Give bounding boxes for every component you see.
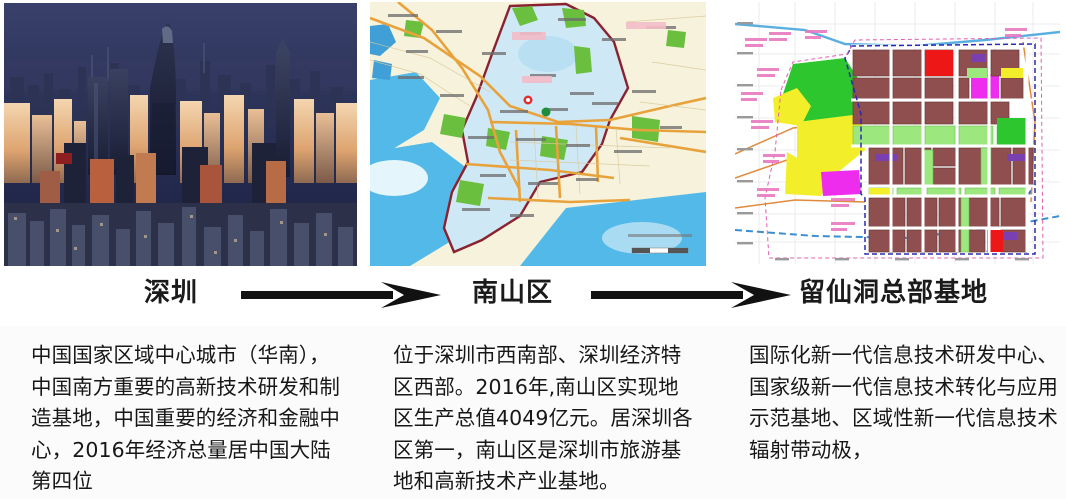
infographic-page: 深圳 南山区 留仙洞总部基地 中国国家区域中心城市（华南），中国南方重要的高新技… xyxy=(0,0,1066,499)
nanshan-district-map xyxy=(370,2,706,266)
description-liuxiandong: 国际化新一代信息技术研发中心、国家级新一代信息技术转化与应用示范基地、区域性新一… xyxy=(749,340,1059,466)
right-arrow-icon xyxy=(241,282,441,308)
skyline-illustration xyxy=(4,3,357,266)
map-illustration xyxy=(370,2,706,266)
description-nanshan: 位于深圳市西南部、深圳经济特区西部。2016年,南山区实现地区生产总值4049亿… xyxy=(393,340,693,498)
column-title-nanshan: 南山区 xyxy=(472,280,553,306)
shenzhen-skyline-photo xyxy=(4,3,357,266)
column-title-shenzhen: 深圳 xyxy=(144,280,198,306)
liuxiandong-zoning-plan xyxy=(735,2,1060,264)
zoning-plan-illustration xyxy=(735,2,1060,264)
image-row xyxy=(0,0,1066,270)
description-band: 中国国家区域中心城市（华南），中国南方重要的高新技术研发和制造基地，中国重要的经… xyxy=(0,326,1066,499)
column-title-liuxiandong: 留仙洞总部基地 xyxy=(799,280,988,306)
right-arrow-icon xyxy=(591,282,791,308)
description-shenzhen: 中国国家区域中心城市（华南），中国南方重要的高新技术研发和制造基地，中国重要的经… xyxy=(31,340,349,498)
title-arrow-band: 深圳 南山区 留仙洞总部基地 xyxy=(0,268,1066,326)
